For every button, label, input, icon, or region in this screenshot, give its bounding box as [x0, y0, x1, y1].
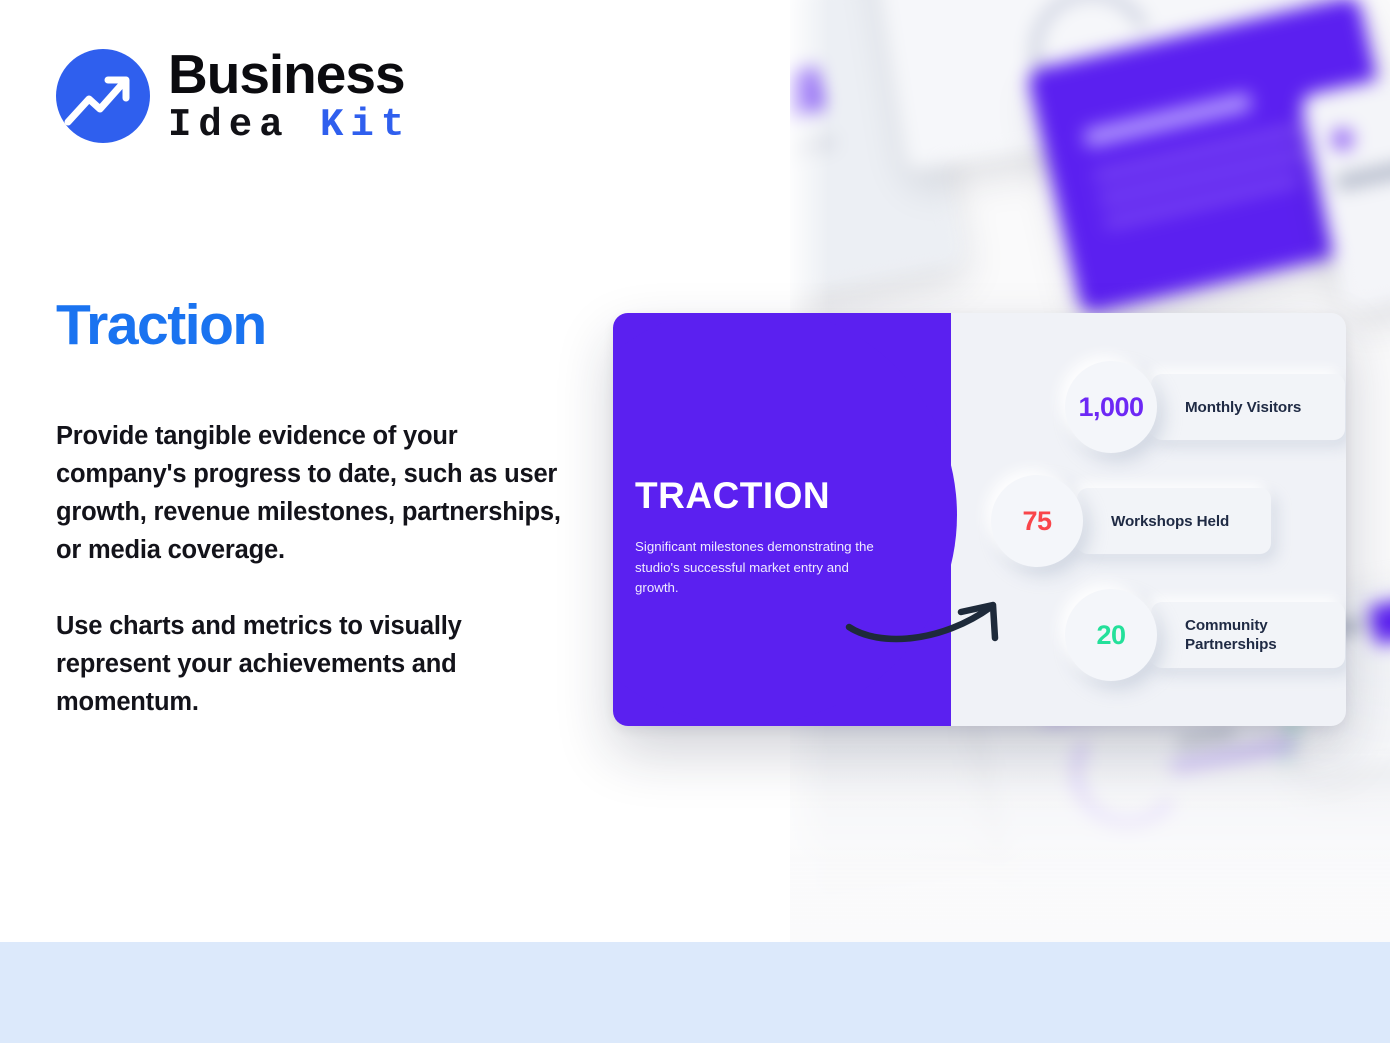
slide-title: TRACTION	[635, 477, 830, 514]
body-copy: Provide tangible evidence of your compan…	[56, 418, 566, 722]
metric-circle-community-partnerships: 20	[1065, 589, 1157, 681]
metrics-list: Monthly Visitors 1,000 Workshops Held 75…	[991, 361, 1331, 681]
metric-pill-monthly-visitors: Monthly Visitors	[1151, 374, 1345, 440]
bottom-accent-bar	[0, 942, 1390, 1043]
slide-subtitle: Significant milestones demonstrating the…	[635, 537, 891, 599]
metric-value-community-partnerships: 20	[1096, 620, 1125, 651]
bg-slide-4-dot	[1329, 126, 1355, 152]
bg-slide-4-line	[1335, 152, 1390, 191]
brand-kit-text: Kit	[320, 103, 411, 147]
brand-logo: Business Idea Kit	[56, 48, 411, 145]
metric-value-workshops-held: 75	[1022, 506, 1051, 537]
growth-chart-arrow-icon	[56, 49, 150, 143]
metric-row-community-partnerships[interactable]: Community Partnerships 20	[1065, 589, 1331, 681]
brand-idea-text: Idea	[168, 103, 320, 147]
brand-wordmark: Business Idea Kit	[168, 48, 411, 145]
slide-page: Business Idea Kit Traction Provide tangi…	[0, 0, 1390, 1043]
curved-up-right-arrow-icon	[845, 591, 1015, 661]
slide-purple-panel	[613, 313, 951, 726]
metric-circle-monthly-visitors: 1,000	[1065, 361, 1157, 453]
brand-line-business: Business	[168, 48, 411, 102]
metric-pill-community-partnerships: Community Partnerships	[1151, 602, 1345, 668]
metric-pill-workshops-held: Workshops Held	[1077, 488, 1271, 554]
metric-value-monthly-visitors: 1,000	[1078, 392, 1143, 423]
body-paragraph-1: Provide tangible evidence of your compan…	[56, 418, 566, 570]
metric-label-monthly-visitors: Monthly Visitors	[1185, 398, 1301, 417]
metric-circle-workshops-held: 75	[991, 475, 1083, 567]
metric-row-workshops-held[interactable]: Workshops Held 75	[991, 475, 1331, 567]
slide-purple-circle	[613, 313, 957, 725]
traction-slide-card[interactable]: TRACTION Significant milestones demonstr…	[613, 313, 1346, 726]
metric-row-monthly-visitors[interactable]: Monthly Visitors 1,000	[1065, 361, 1331, 453]
metric-label-workshops-held: Workshops Held	[1111, 512, 1229, 531]
page-title: Traction	[56, 297, 266, 354]
metric-label-community-partnerships: Community Partnerships	[1185, 616, 1305, 654]
body-paragraph-2: Use charts and metrics to visually repre…	[56, 608, 566, 722]
brand-line-idea-kit: Idea Kit	[168, 106, 411, 145]
